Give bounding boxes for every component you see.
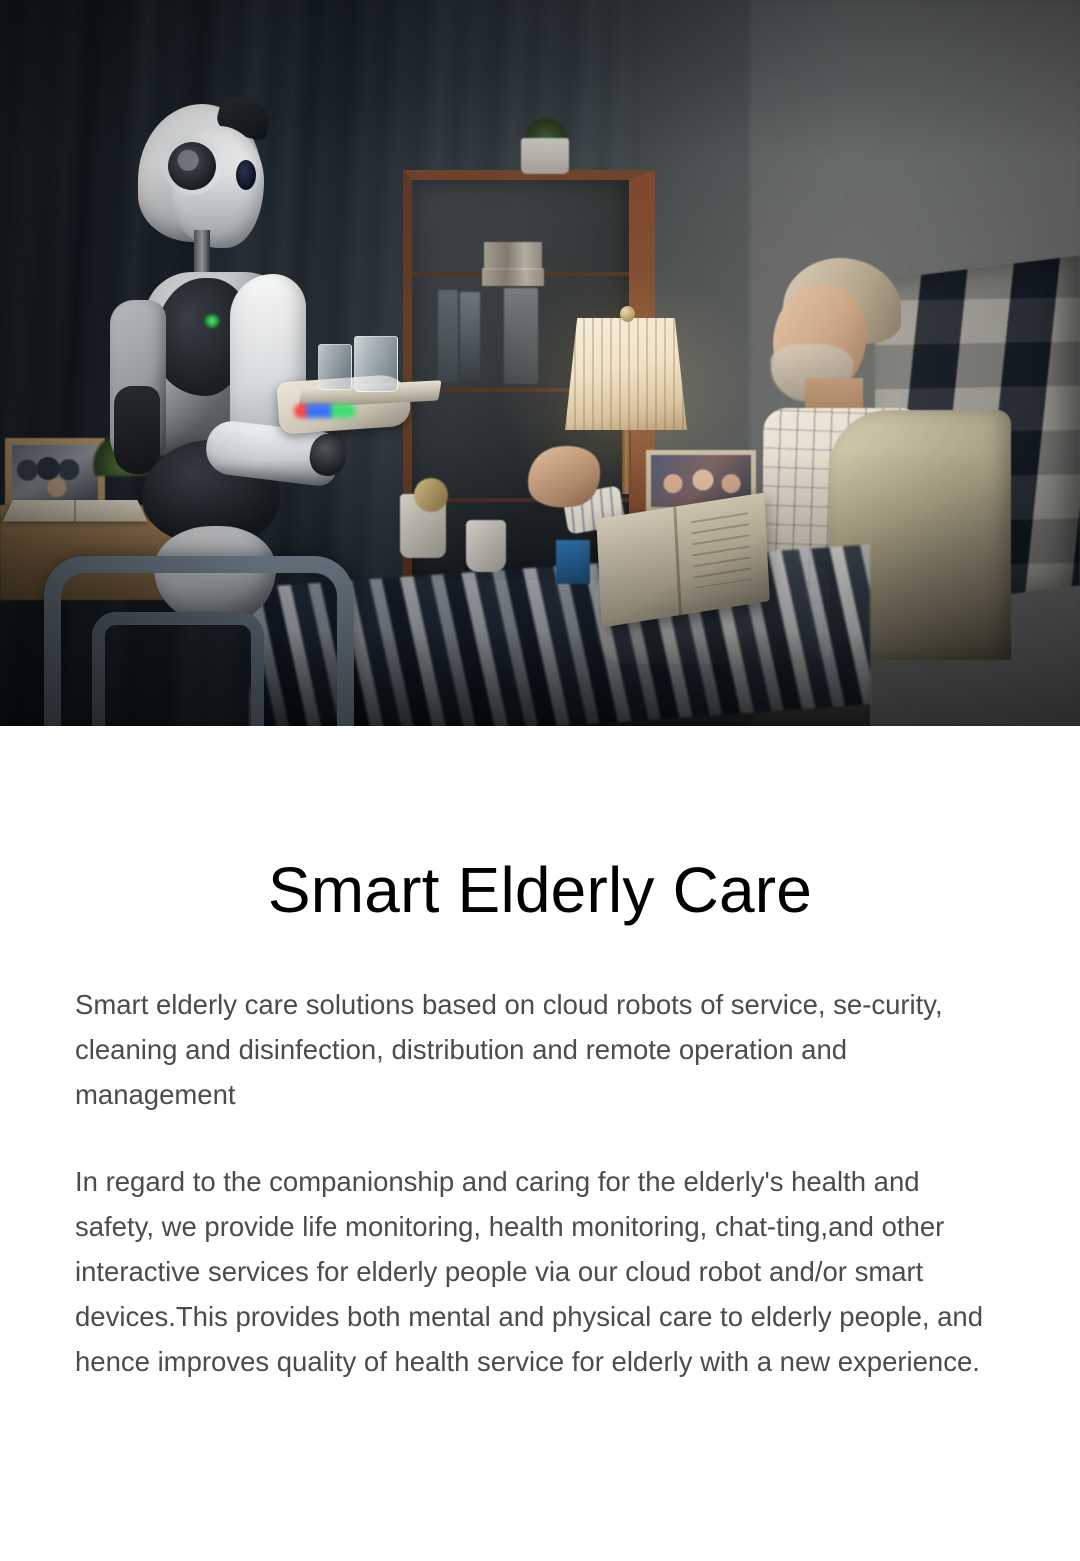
shelf-book-tall [438, 290, 458, 382]
hero-scene [0, 0, 1080, 726]
shelf-books [482, 268, 544, 286]
drinking-glass [318, 344, 352, 390]
smart-elderly-care-page: Smart Elderly Care Smart elderly care so… [0, 0, 1080, 1561]
picture-frame-desk [5, 438, 105, 508]
robot-chest-led [204, 314, 220, 328]
hospital-bed-rail-inner [92, 612, 264, 726]
text-content: Smart Elderly Care Smart elderly care so… [0, 858, 1080, 1384]
shelf-book-tall [460, 292, 480, 380]
description-paragraph-1: Smart elderly care solutions based on cl… [75, 982, 1005, 1117]
robot-ear-sensor [168, 142, 216, 190]
nightstand-mug [466, 520, 506, 572]
robot-rgb-leds [294, 404, 356, 418]
table-lamp-shade [565, 318, 687, 430]
shelf-book-tall [504, 288, 538, 384]
lamp-neck [622, 426, 631, 494]
description-block: Smart elderly care solutions based on cl… [0, 982, 1080, 1384]
hero-image [0, 0, 1080, 726]
drinking-glass [354, 336, 398, 392]
book-page-text [691, 512, 752, 588]
page-title: Smart Elderly Care [0, 858, 1080, 922]
shelf-books [484, 242, 542, 270]
robot-eye [236, 160, 256, 190]
robot-left-forearm [114, 386, 160, 474]
potted-plant-pot [521, 138, 569, 174]
blue-object [556, 540, 590, 584]
description-paragraph-2: In regard to the companionship and carin… [75, 1159, 1005, 1384]
desk-photo-figures [12, 445, 98, 501]
lamp-finial [620, 306, 635, 322]
